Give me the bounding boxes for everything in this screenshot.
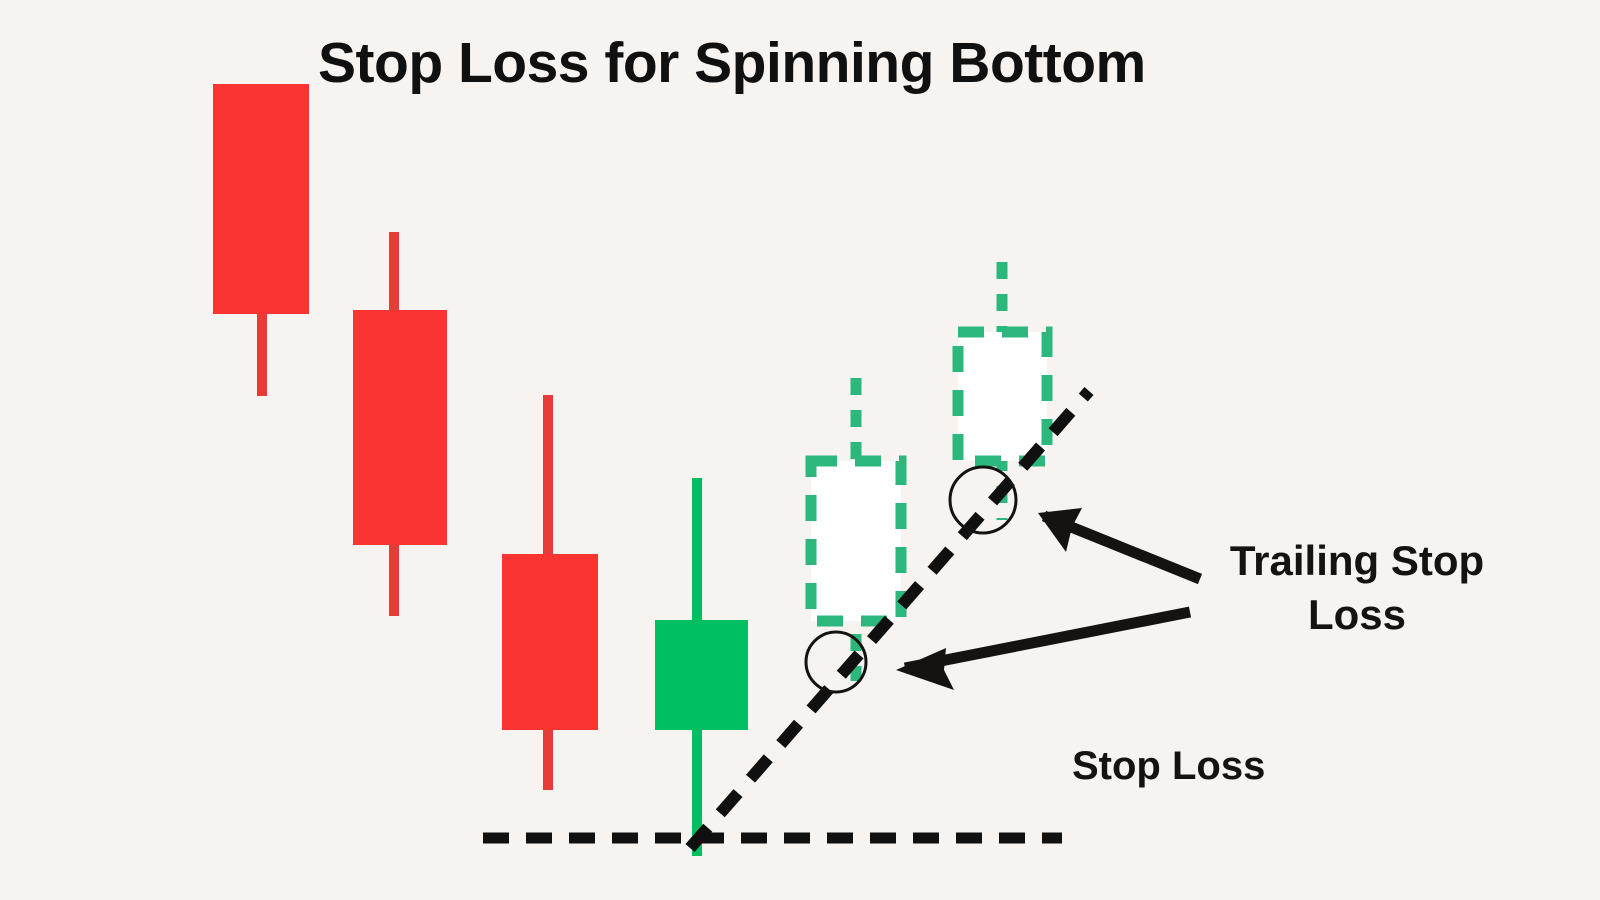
solid-candles-group	[213, 84, 748, 856]
trailing-stop-loss-label-line2: Loss	[1192, 588, 1522, 642]
bearish-candle-1	[213, 84, 309, 396]
candle-body	[213, 84, 309, 314]
arrow-to-lower-marker	[896, 612, 1190, 690]
page-title: Stop Loss for Spinning Bottom	[318, 34, 1308, 94]
trailing-stop-loss-label-line1: Trailing Stop	[1192, 534, 1522, 588]
bearish-candle-3	[502, 395, 598, 790]
bearish-candle-2	[353, 232, 447, 616]
arrow-head	[896, 648, 954, 690]
candle-body	[353, 310, 447, 545]
candle-body-dashed	[811, 461, 901, 621]
candle-body	[502, 554, 598, 730]
chart-canvas: Stop Loss for Spinning Bottom Trailing S…	[0, 0, 1600, 900]
stop-loss-label: Stop Loss	[1020, 742, 1420, 790]
candle-body-dashed	[958, 332, 1047, 461]
arrow-shaft	[905, 612, 1190, 668]
projected-candles-group	[811, 262, 1047, 681]
arrow-to-upper-marker	[1038, 508, 1200, 579]
annotation-arrows-group	[896, 508, 1200, 690]
trailing-stop-loss-label: Trailing Stop Loss	[1192, 534, 1522, 642]
candle-body	[655, 620, 748, 730]
